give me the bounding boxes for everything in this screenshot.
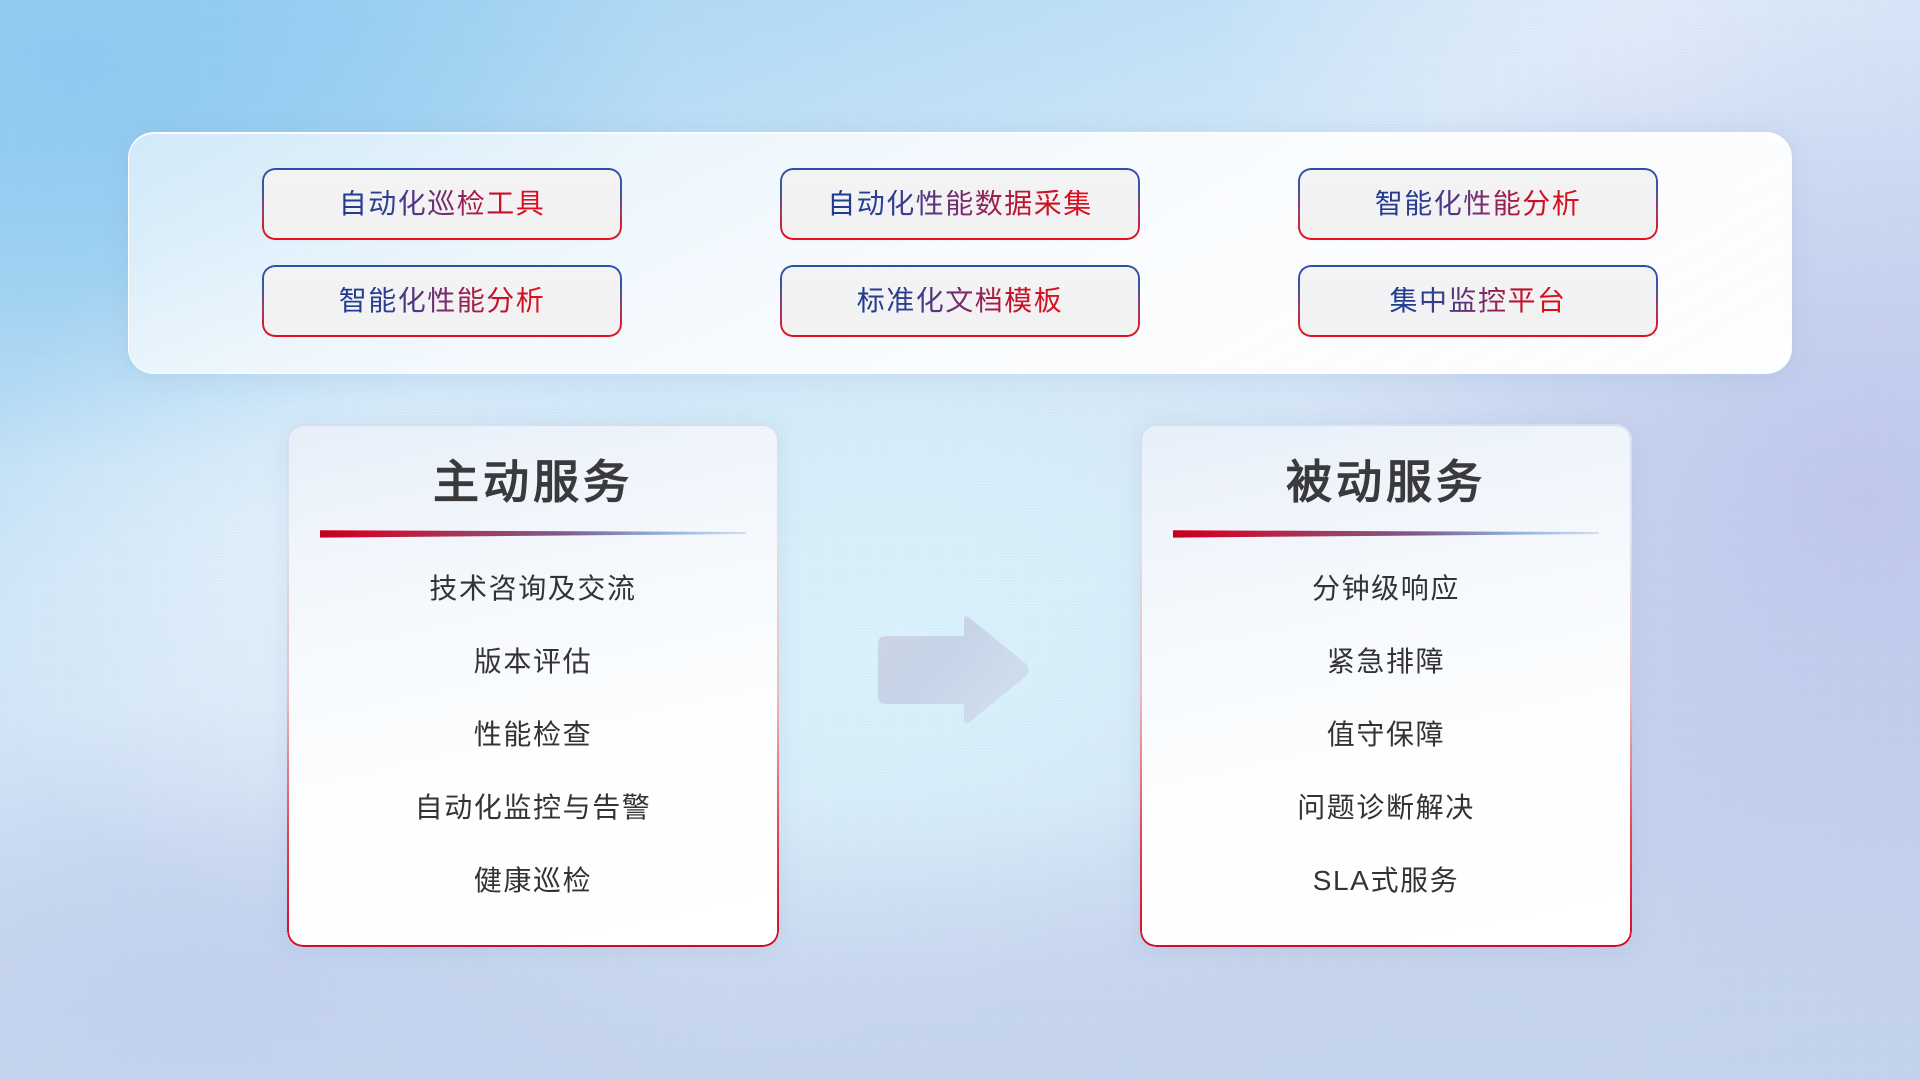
- service-list-item: 分钟级响应: [1140, 568, 1632, 610]
- service-list-item: 自动化监控与告警: [287, 787, 779, 829]
- capability-pill-2[interactable]: 自动化性能数据采集: [782, 170, 1138, 238]
- capability-pill-label: 标准化文档模板: [857, 287, 1064, 315]
- capability-pill-label: 智能化性能分析: [339, 287, 546, 315]
- service-list-item: 版本评估: [287, 641, 779, 683]
- service-list-item: 健康巡检: [287, 860, 779, 902]
- capability-pill-label: 自动化巡检工具: [339, 190, 546, 218]
- capability-pill-6[interactable]: 集中监控平台: [1300, 267, 1656, 335]
- capability-pill-1[interactable]: 自动化巡检工具: [264, 170, 620, 238]
- service-card-passive: 被动服务 分钟级响应 紧急排障 值守保障 问题诊断解决 SLA式服务: [1140, 424, 1632, 947]
- capability-pill-3[interactable]: 智能化性能分析: [1300, 170, 1656, 238]
- capability-pill-label: 智能化性能分析: [1375, 190, 1582, 218]
- service-list-item: 紧急排障: [1140, 641, 1632, 683]
- service-list: 技术咨询及交流 版本评估 性能检查 自动化监控与告警 健康巡检: [287, 568, 779, 902]
- capability-pill-5[interactable]: 标准化文档模板: [782, 267, 1138, 335]
- service-list-item: 性能检查: [287, 714, 779, 756]
- capability-pill-label: 集中监控平台: [1389, 287, 1566, 315]
- capability-pill-label: 自动化性能数据采集: [827, 190, 1093, 218]
- card-title-divider: [320, 529, 746, 538]
- card-title: 被动服务: [1140, 456, 1632, 509]
- capability-pill-4[interactable]: 智能化性能分析: [264, 267, 620, 335]
- service-list-item: 问题诊断解决: [1140, 787, 1632, 829]
- service-list-item: 值守保障: [1140, 714, 1632, 756]
- card-title: 主动服务: [287, 456, 779, 509]
- service-list-item: SLA式服务: [1140, 860, 1632, 902]
- card-title-divider: [1173, 529, 1599, 538]
- right-arrow-icon: [872, 614, 1032, 726]
- service-card-active: 主动服务 技术咨询及交流 版本评估 性能检查 自动化监控与告警 健康巡检: [287, 424, 779, 947]
- service-list: 分钟级响应 紧急排障 值守保障 问题诊断解决 SLA式服务: [1140, 568, 1632, 902]
- service-list-item: 技术咨询及交流: [287, 568, 779, 610]
- capabilities-panel: 自动化巡检工具 自动化性能数据采集 智能化性能分析 智能化性能分析 标准化文档模…: [128, 132, 1792, 374]
